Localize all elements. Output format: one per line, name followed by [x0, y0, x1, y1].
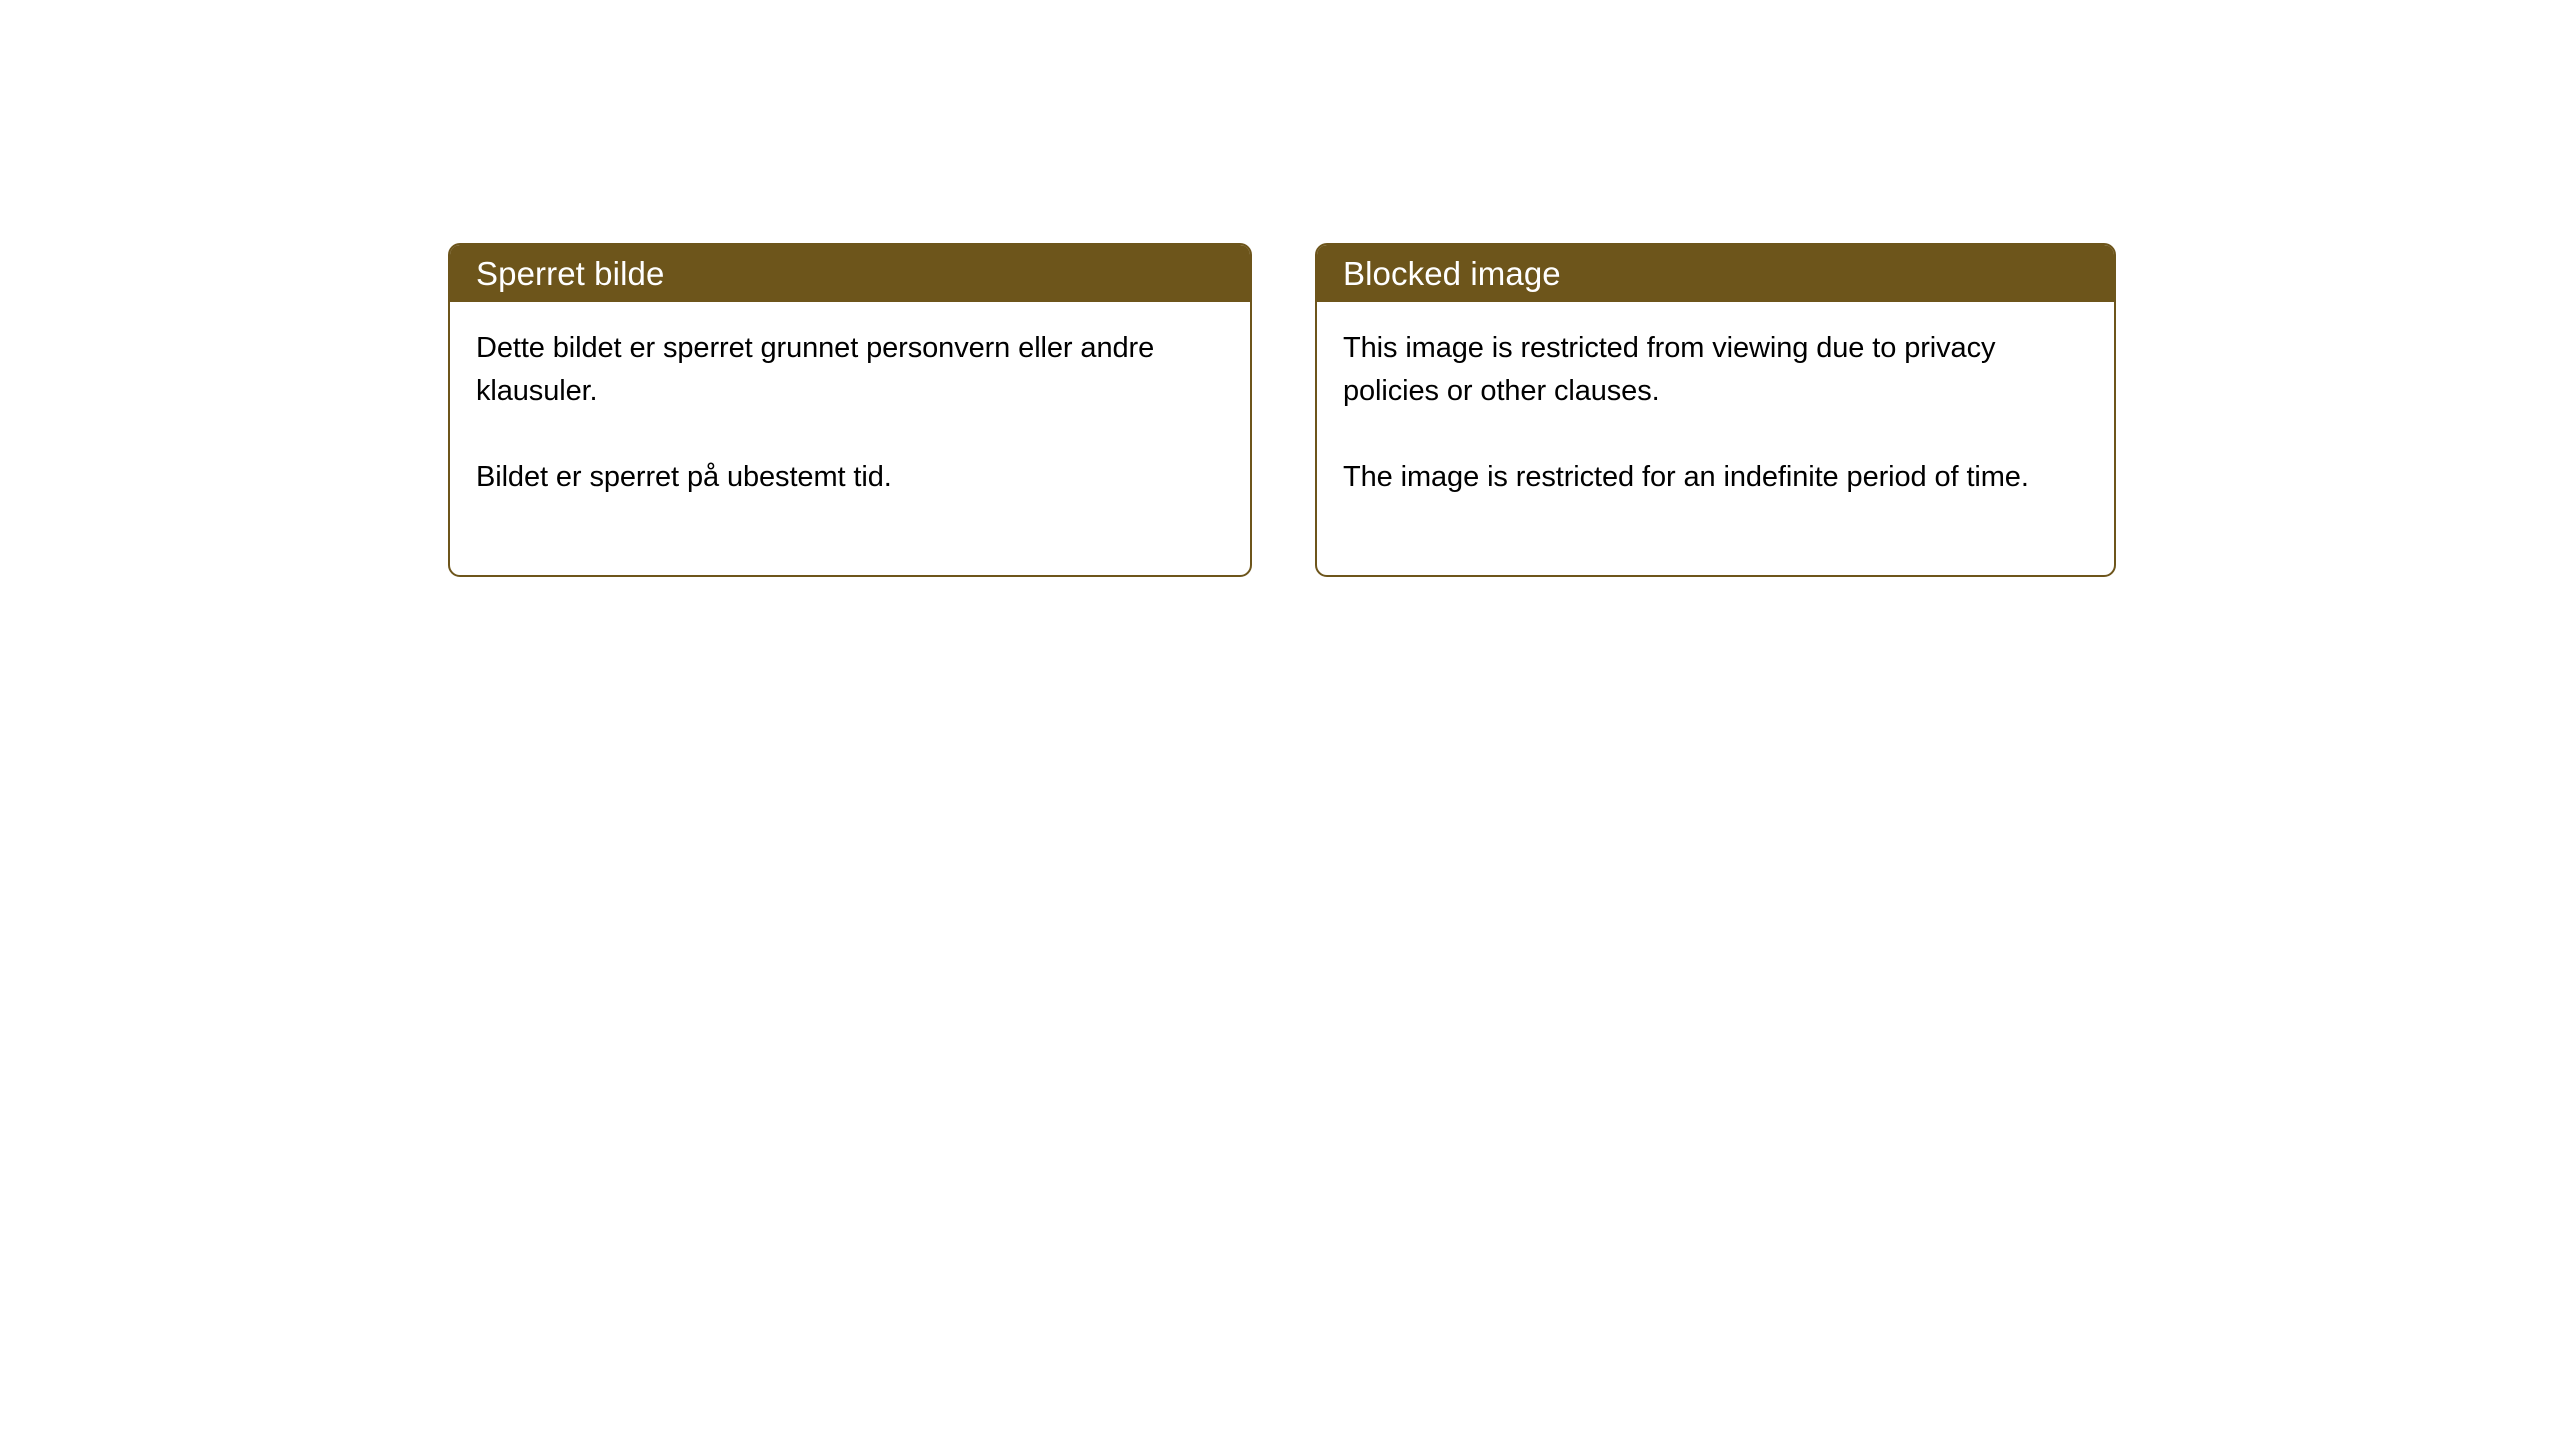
panel-paragraph-duration-norwegian: Bildet er sperret på ubestemt tid.	[476, 456, 1224, 499]
panel-header-english: Blocked image	[1317, 245, 2114, 302]
panel-title-norwegian: Sperret bilde	[476, 257, 664, 290]
panel-body-norwegian: Dette bildet er sperret grunnet personve…	[450, 302, 1250, 499]
blocked-image-panel-english: Blocked image This image is restricted f…	[1315, 243, 2116, 577]
panel-paragraph-privacy-english: This image is restricted from viewing du…	[1343, 327, 2088, 413]
panel-body-english: This image is restricted from viewing du…	[1317, 302, 2114, 499]
blocked-image-panel-norwegian: Sperret bilde Dette bildet er sperret gr…	[448, 243, 1252, 577]
panel-paragraph-privacy-norwegian: Dette bildet er sperret grunnet personve…	[476, 327, 1224, 413]
panel-header-norwegian: Sperret bilde	[450, 245, 1250, 302]
blocked-image-notice-area: Sperret bilde Dette bildet er sperret gr…	[448, 243, 2116, 577]
panel-title-english: Blocked image	[1343, 257, 1561, 290]
panel-paragraph-duration-english: The image is restricted for an indefinit…	[1343, 456, 2088, 499]
